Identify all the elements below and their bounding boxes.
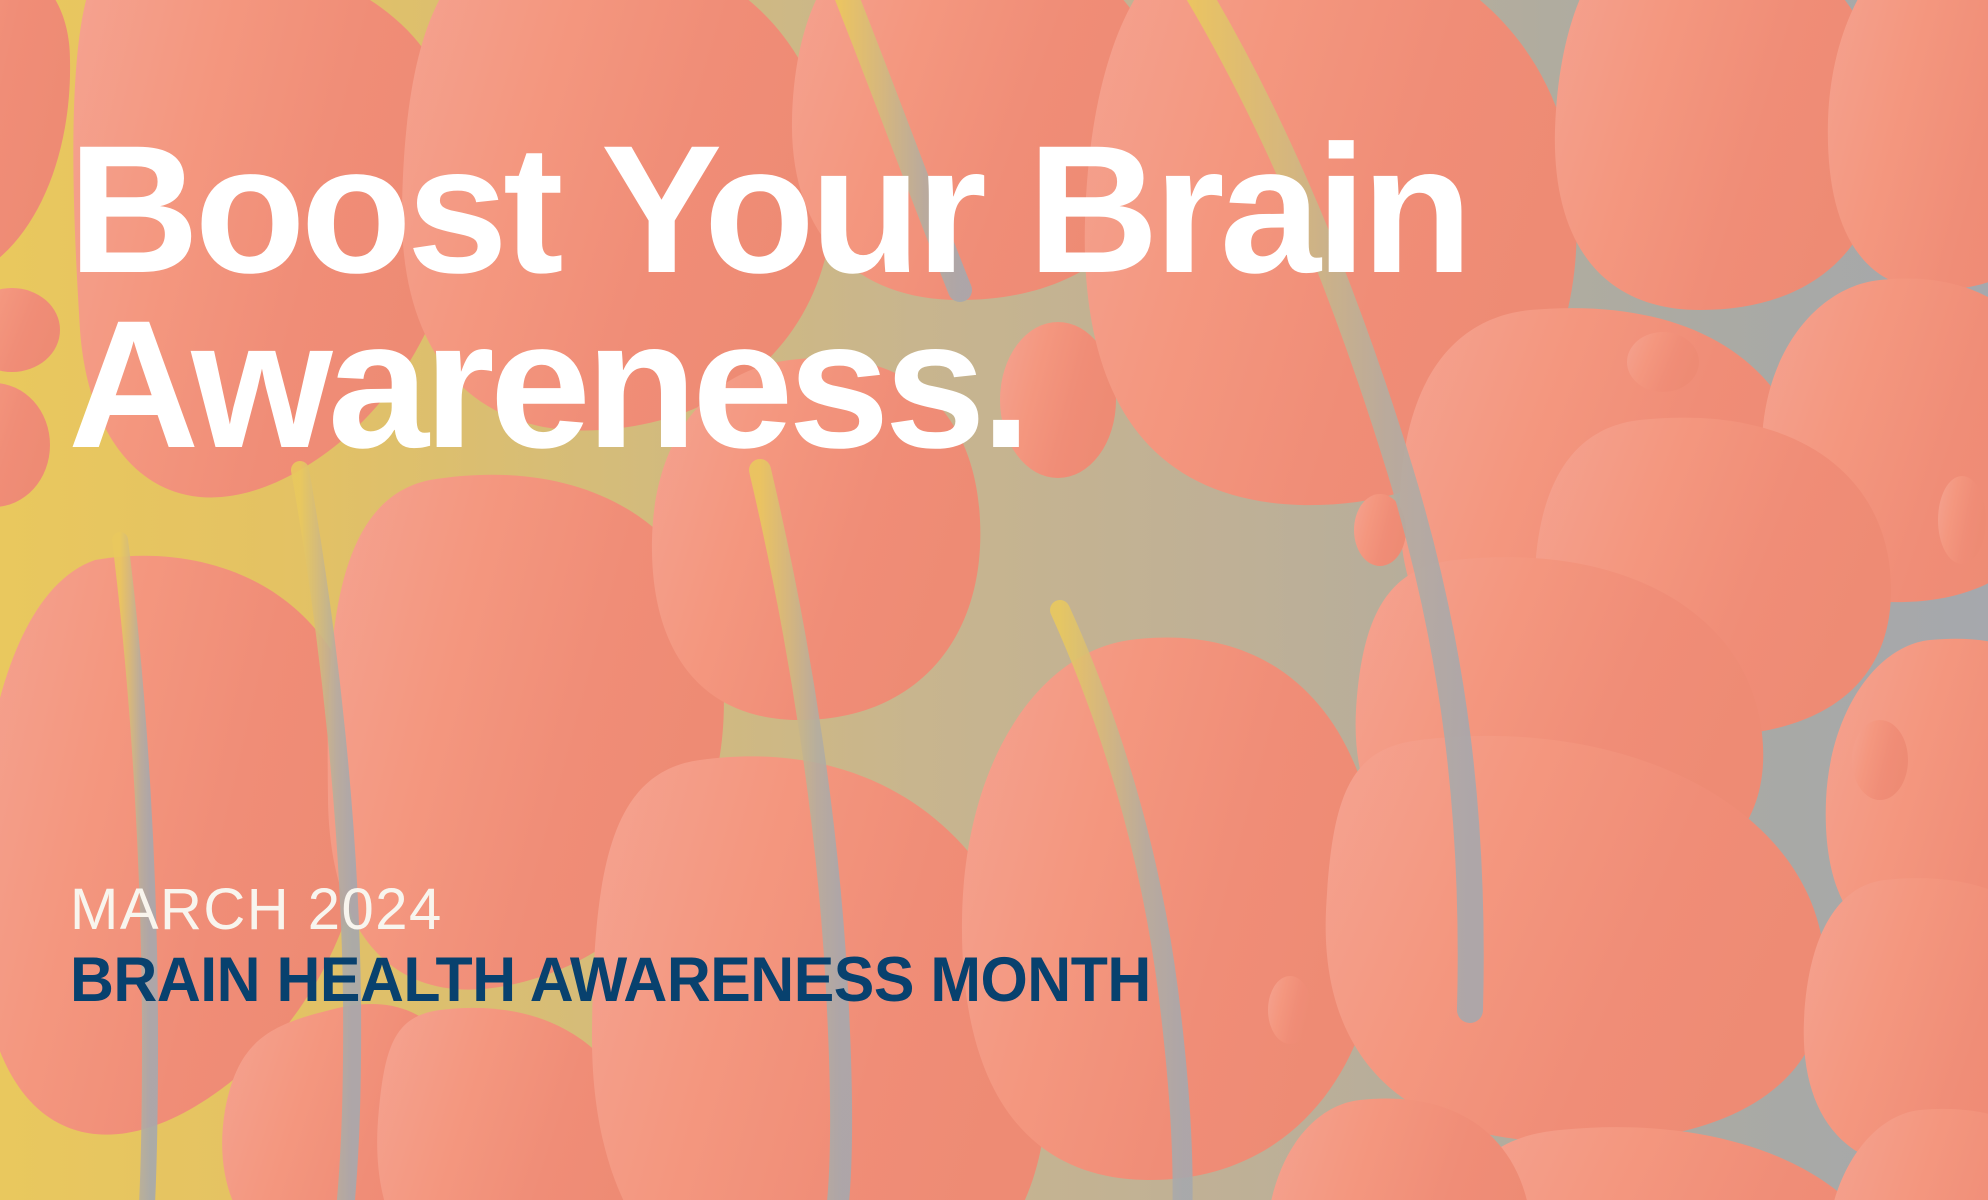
campaign-title: BRAIN HEALTH AWARENESS MONTH [70,949,1151,1012]
eyebrow-date-label: MARCH 2024 [70,880,1190,941]
footer-text-block: MARCH 2024 BRAIN HEALTH AWARENESS MONTH [70,880,1190,1012]
headline-line-1: Boost Your Brain [68,122,1468,297]
brain-health-awareness-banner: Boost Your Brain Awareness. MARCH 2024 B… [0,0,1988,1200]
headline-line-2: Awareness. [68,297,1468,472]
headline-block: Boost Your Brain Awareness. [68,122,1468,471]
